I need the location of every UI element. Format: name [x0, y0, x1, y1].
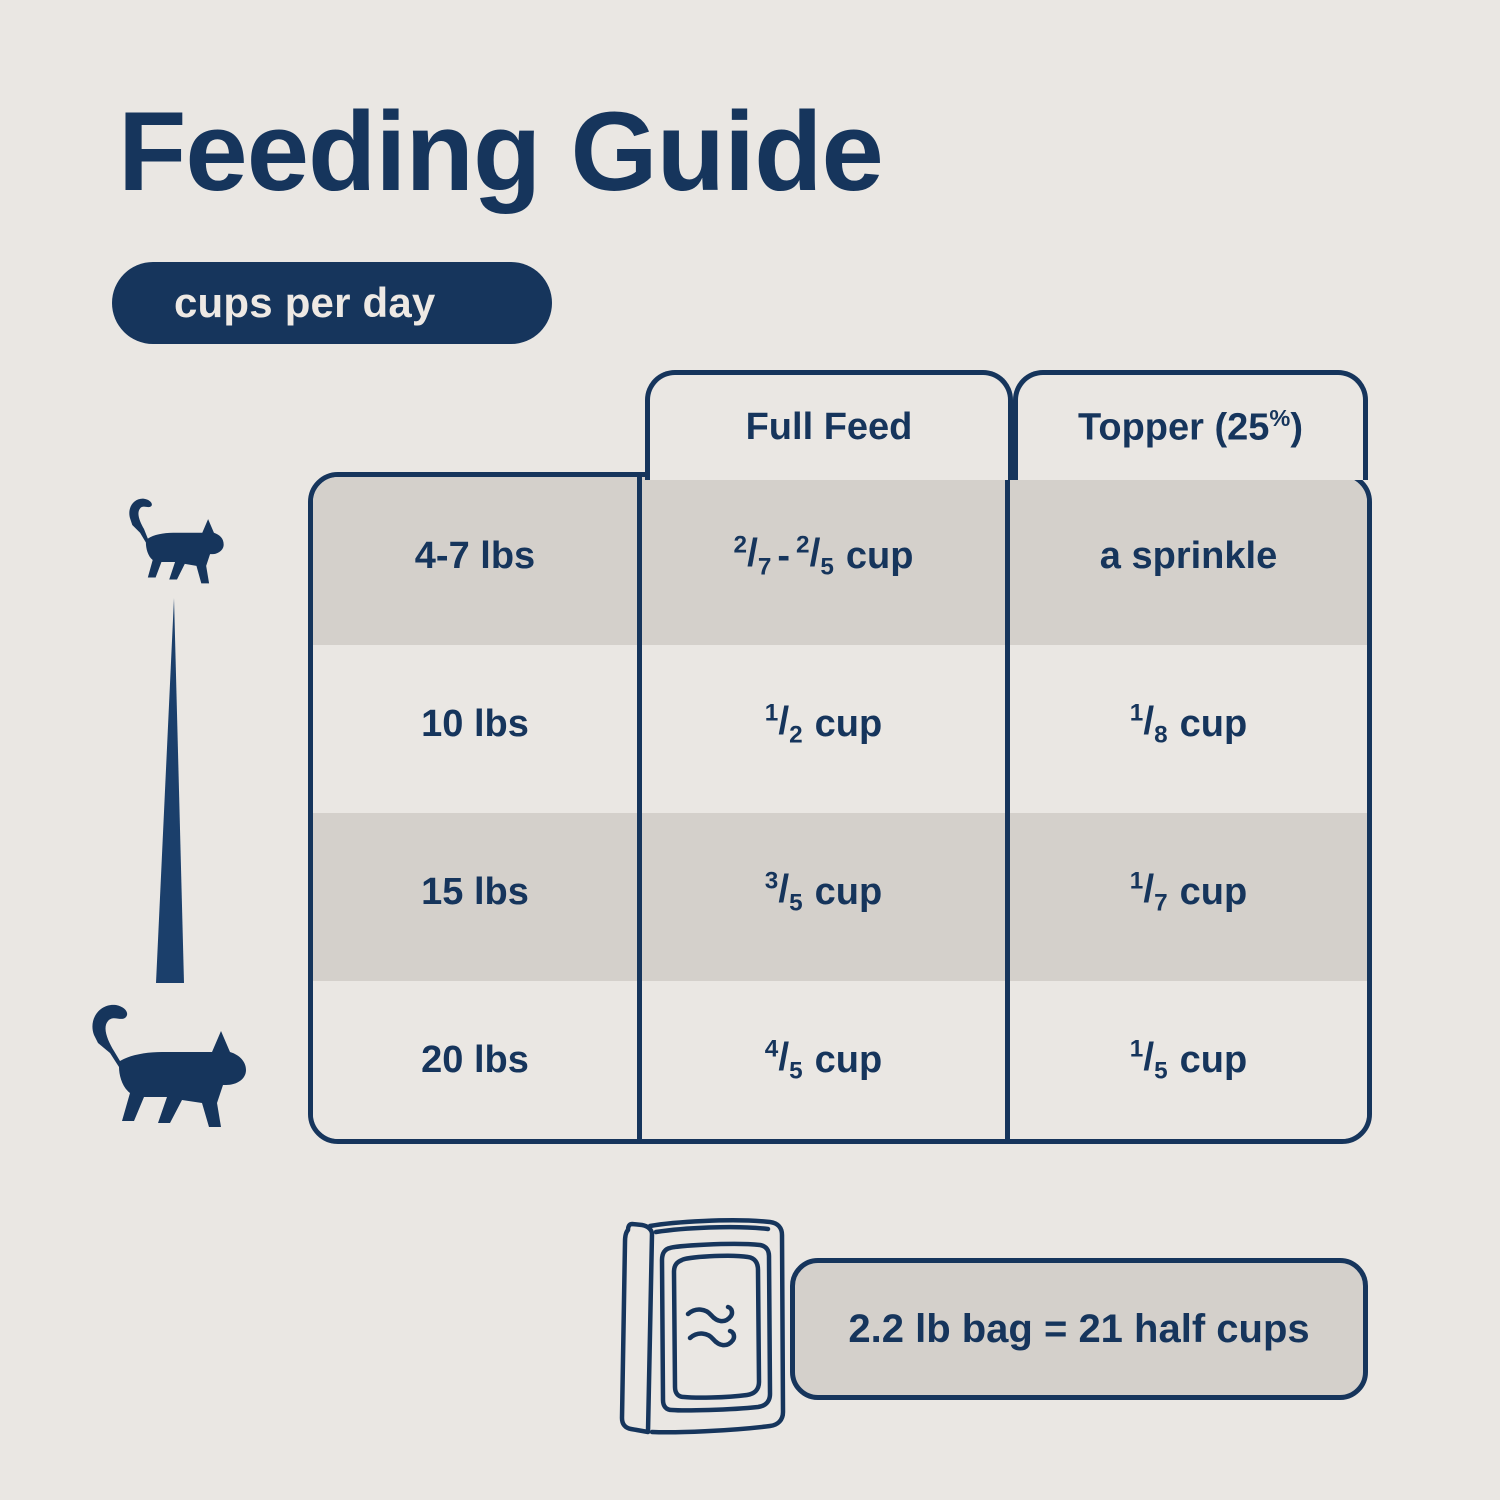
fraction: 1/8: [1130, 700, 1168, 748]
fraction: 1/5: [1130, 1036, 1168, 1084]
fraction-bar: /: [778, 868, 789, 911]
fraction: 1/2: [765, 700, 803, 748]
unit-label: cup: [1180, 1039, 1248, 1082]
fraction-bar: /: [810, 532, 821, 575]
fraction-bar: /: [1143, 868, 1154, 911]
table-cell-full-feed: 2/7 - 2/5 cup: [642, 472, 1005, 640]
unit-label: cup: [815, 871, 883, 914]
table-cell-weight: 4-7 lbs: [313, 472, 637, 640]
table-cell-topper: 1/8 cup: [1010, 640, 1367, 808]
table-cell-weight: 20 lbs: [313, 976, 637, 1144]
fraction-denominator: 5: [789, 1058, 803, 1085]
fraction-numerator: 2: [796, 531, 810, 558]
cups-per-day-badge: cups per day: [112, 262, 552, 344]
fraction-bar: /: [1143, 700, 1154, 743]
unit-label: cup: [815, 703, 883, 746]
fraction-bar: /: [747, 532, 758, 575]
fraction: 2/7: [734, 532, 772, 580]
fraction-bar: /: [1143, 1036, 1154, 1079]
bag-yield-note: 2.2 lb bag = 21 half cups: [790, 1258, 1368, 1400]
table-cell-weight: 15 lbs: [313, 808, 637, 976]
fraction-numerator: 2: [734, 531, 748, 558]
table-cell-full-feed: 4/5 cup: [642, 976, 1005, 1144]
range-dash: -: [777, 535, 790, 578]
unit-label: cup: [1180, 871, 1248, 914]
walking-cat-icon-small: [118, 490, 236, 595]
table-cell-topper: a sprinkle: [1010, 472, 1367, 640]
badge-label: cups per day: [174, 279, 436, 327]
fraction: 2/5: [796, 532, 834, 580]
fraction-numerator: 1: [1130, 699, 1144, 726]
kibble-bag-icon: [612, 1212, 812, 1450]
column-header-full-feed: Full Feed: [645, 370, 1013, 480]
fraction-numerator: 3: [765, 867, 779, 894]
unit-label: cup: [846, 535, 914, 578]
feeding-guide-graphic: Feeding Guide cups per day Full Feed Top…: [0, 0, 1500, 1500]
fraction-numerator: 1: [1130, 1035, 1144, 1062]
table-cell-full-feed: 1/2 cup: [642, 640, 1005, 808]
fraction-numerator: 4: [765, 1035, 779, 1062]
fraction-denominator: 5: [789, 890, 803, 917]
column-header-full-feed-label: Full Feed: [746, 406, 913, 449]
page-title: Feeding Guide: [118, 96, 883, 208]
fraction-denominator: 7: [1154, 890, 1168, 917]
fraction-numerator: 1: [1130, 867, 1144, 894]
fraction-numerator: 1: [765, 699, 779, 726]
fraction: 3/5: [765, 868, 803, 916]
topper-prefix: Topper (25: [1078, 407, 1269, 449]
column-header-topper: Topper (25%): [1013, 370, 1368, 480]
column-header-topper-label: Topper (25%): [1078, 405, 1303, 450]
fraction: 1/7: [1130, 868, 1168, 916]
fraction-denominator: 8: [1154, 722, 1168, 749]
fraction-denominator: 2: [789, 722, 803, 749]
walking-cat-icon-large: [78, 995, 263, 1130]
table-cell-weight: 10 lbs: [313, 640, 637, 808]
unit-label: cup: [815, 1039, 883, 1082]
fraction-denominator: 5: [1154, 1058, 1168, 1085]
topper-suffix: ): [1290, 407, 1303, 449]
bag-yield-note-label: 2.2 lb bag = 21 half cups: [848, 1307, 1309, 1352]
table-cell-full-feed: 3/5 cup: [642, 808, 1005, 976]
fraction-denominator: 7: [758, 554, 772, 581]
fraction-denominator: 5: [820, 554, 834, 581]
size-scale-wedge: [150, 598, 200, 983]
fraction-bar: /: [778, 1036, 789, 1079]
unit-label: cup: [1180, 703, 1248, 746]
fraction-bar: /: [778, 700, 789, 743]
percent-symbol: %: [1269, 405, 1290, 431]
table-cell-topper: 1/7 cup: [1010, 808, 1367, 976]
table-cell-topper: 1/5 cup: [1010, 976, 1367, 1144]
fraction: 4/5: [765, 1036, 803, 1084]
